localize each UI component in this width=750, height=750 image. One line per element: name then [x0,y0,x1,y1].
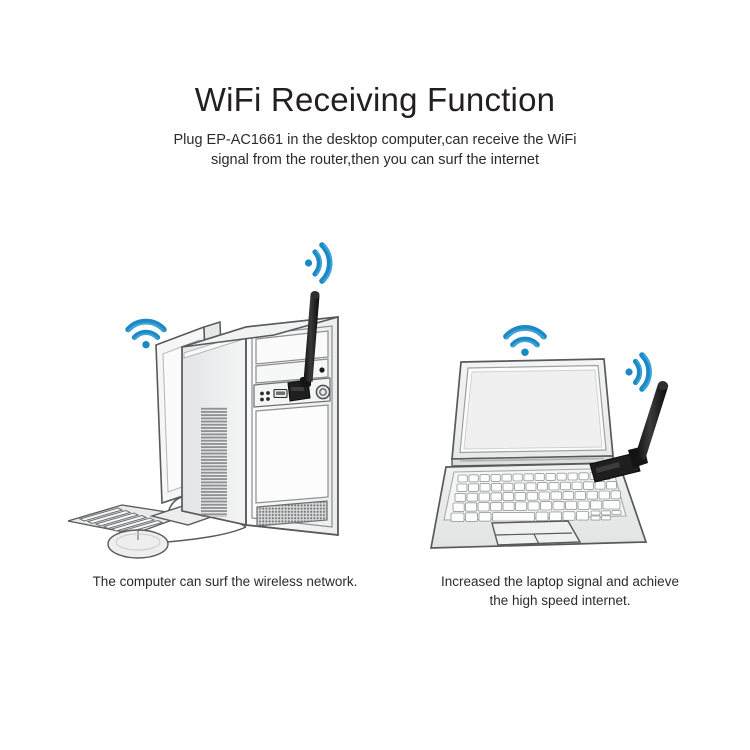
screen [452,359,613,459]
power-button[interactable] [316,385,329,398]
product-feature-slide: WiFi Receiving Function Plug EP-AC1661 i… [0,0,750,750]
page-title: WiFi Receiving Function [0,80,750,120]
header: WiFi Receiving Function Plug EP-AC1661 i… [0,80,750,170]
subtitle-line-2: signal from the router,then you can surf… [0,150,750,170]
caption-desktop: The computer can surf the wireless netwo… [45,572,405,591]
wifi-signal-tower-antenna [305,245,332,281]
trackpad[interactable] [492,521,580,545]
side-vent [201,407,227,517]
caption-desktop-line-1: The computer can surf the wireless netwo… [45,572,405,591]
desktop-computer-illustration [60,235,420,565]
caption-laptop: Increased the laptop signal and achieve … [400,572,720,610]
mouse [108,527,246,558]
laptop-illustration [430,320,710,560]
subtitle-line-1: Plug EP-AC1661 in the desktop computer,c… [0,130,750,150]
illustration-stage [0,235,750,585]
wifi-signal-laptop-adapter [625,355,650,389]
caption-laptop-line-1: Increased the laptop signal and achieve [400,572,720,591]
caption-laptop-line-2: the high speed internet. [400,591,720,610]
wifi-signal-laptop-screen [506,328,544,356]
page-subtitle: Plug EP-AC1661 in the desktop computer,c… [0,130,750,170]
